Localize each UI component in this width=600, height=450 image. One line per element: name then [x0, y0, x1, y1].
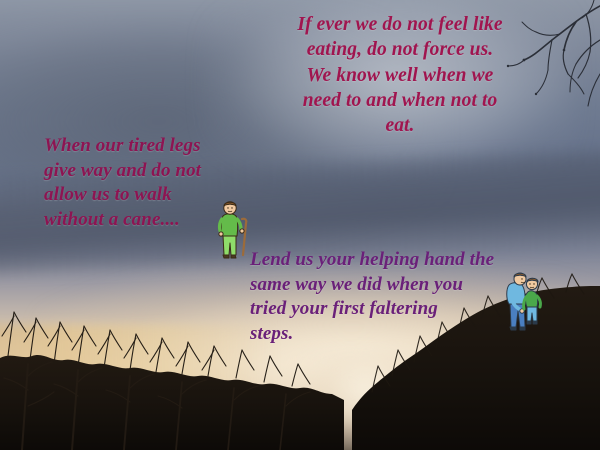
quote-image-canvas: If ever we do not feel like eating, do n… — [0, 0, 600, 450]
tree-canopy-left — [0, 355, 344, 450]
quote-text-top: If ever we do not feel like eating, do n… — [258, 12, 542, 139]
quote-text-left: When our tired legs give way and do not … — [44, 134, 256, 233]
quote-text-bottom: Lend us your helping hand the same way w… — [250, 248, 518, 347]
